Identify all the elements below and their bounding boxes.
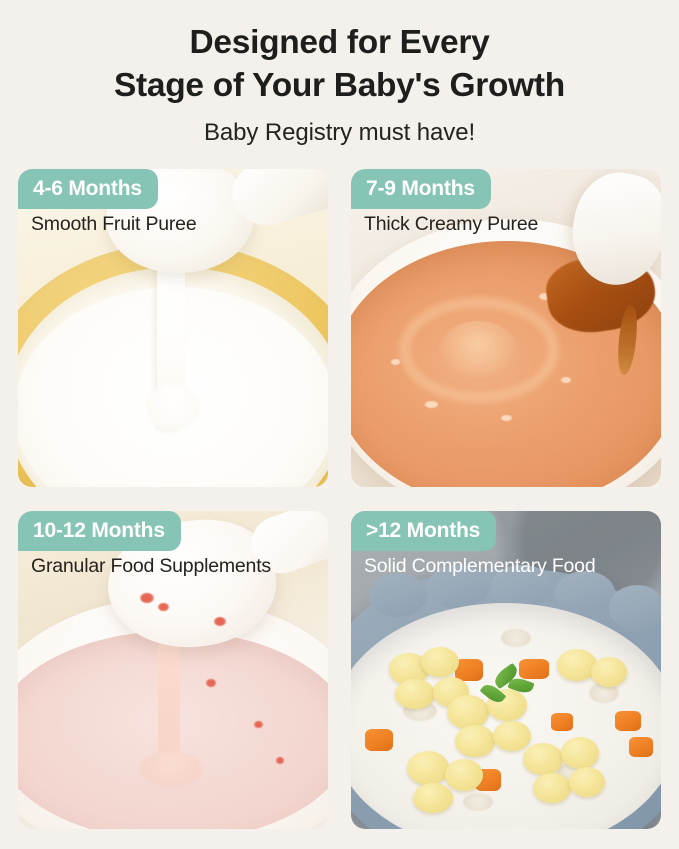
stage-caption: Thick Creamy Puree <box>364 213 538 236</box>
puree-highlight <box>425 401 438 408</box>
banana-slice <box>447 695 489 729</box>
banana-slice <box>591 657 627 687</box>
banana-slice <box>455 725 495 757</box>
food-fleck <box>214 617 226 626</box>
stage-card-grid: 4-6 Months Smooth Fruit Puree 7-9 Months… <box>18 169 661 829</box>
banana-slice <box>523 743 563 775</box>
stage-card-4-6-months[interactable]: 4-6 Months Smooth Fruit Puree <box>18 169 328 487</box>
food-fleck <box>158 603 169 611</box>
carrot-cube <box>551 713 573 731</box>
banana-slice <box>395 679 435 709</box>
promo-banner: Designed for Every Stage of Your Baby's … <box>0 0 679 849</box>
oat-flake <box>501 629 531 647</box>
page-title: Designed for Every Stage of Your Baby's … <box>0 22 679 108</box>
banana-slice <box>421 647 459 677</box>
stage-caption: Granular Food Supplements <box>31 555 271 578</box>
banana-slice <box>533 773 571 803</box>
puree-swirl-inner <box>439 321 517 379</box>
banana-slice <box>407 751 449 785</box>
banana-slice <box>445 759 483 791</box>
plate-scallop <box>609 585 661 631</box>
banana-slice <box>569 767 605 797</box>
oat-flake <box>463 793 493 811</box>
title-line-2: Stage of Your Baby's Growth <box>0 65 679 108</box>
puree-highlight <box>501 415 512 421</box>
food-fleck <box>276 757 284 764</box>
puree-drip-splash <box>146 384 200 430</box>
stage-badge: 10-12 Months <box>18 511 181 551</box>
stage-caption: Smooth Fruit Puree <box>31 213 196 236</box>
puree-highlight <box>561 377 571 383</box>
banner-header: Designed for Every Stage of Your Baby's … <box>0 0 679 147</box>
title-line-1: Designed for Every <box>0 22 679 65</box>
food-fleck <box>254 721 263 728</box>
food-fleck <box>140 593 154 603</box>
plate-scallop <box>369 573 427 617</box>
banana-slice <box>561 737 599 769</box>
carrot-cube <box>629 737 653 757</box>
stage-card-7-9-months[interactable]: 7-9 Months Thick Creamy Puree <box>351 169 661 487</box>
banana-slice <box>413 783 453 813</box>
stage-badge: >12 Months <box>351 511 496 551</box>
food-fleck <box>206 679 216 687</box>
stage-badge: 4-6 Months <box>18 169 158 209</box>
carrot-cube <box>519 659 549 679</box>
stage-badge: 7-9 Months <box>351 169 491 209</box>
stage-card-10-12-months[interactable]: 10-12 Months Granular Food Supplements <box>18 511 328 829</box>
puree-highlight <box>391 359 400 365</box>
carrot-cube <box>365 729 393 751</box>
carrot-cube <box>615 711 641 731</box>
stage-caption: Solid Complementary Food <box>364 555 595 578</box>
stage-card-over-12-months[interactable]: >12 Months Solid Complementary Food <box>351 511 661 829</box>
banana-slice <box>493 721 531 751</box>
page-subtitle: Baby Registry must have! <box>0 119 679 147</box>
pink-puree-splash <box>140 751 202 787</box>
